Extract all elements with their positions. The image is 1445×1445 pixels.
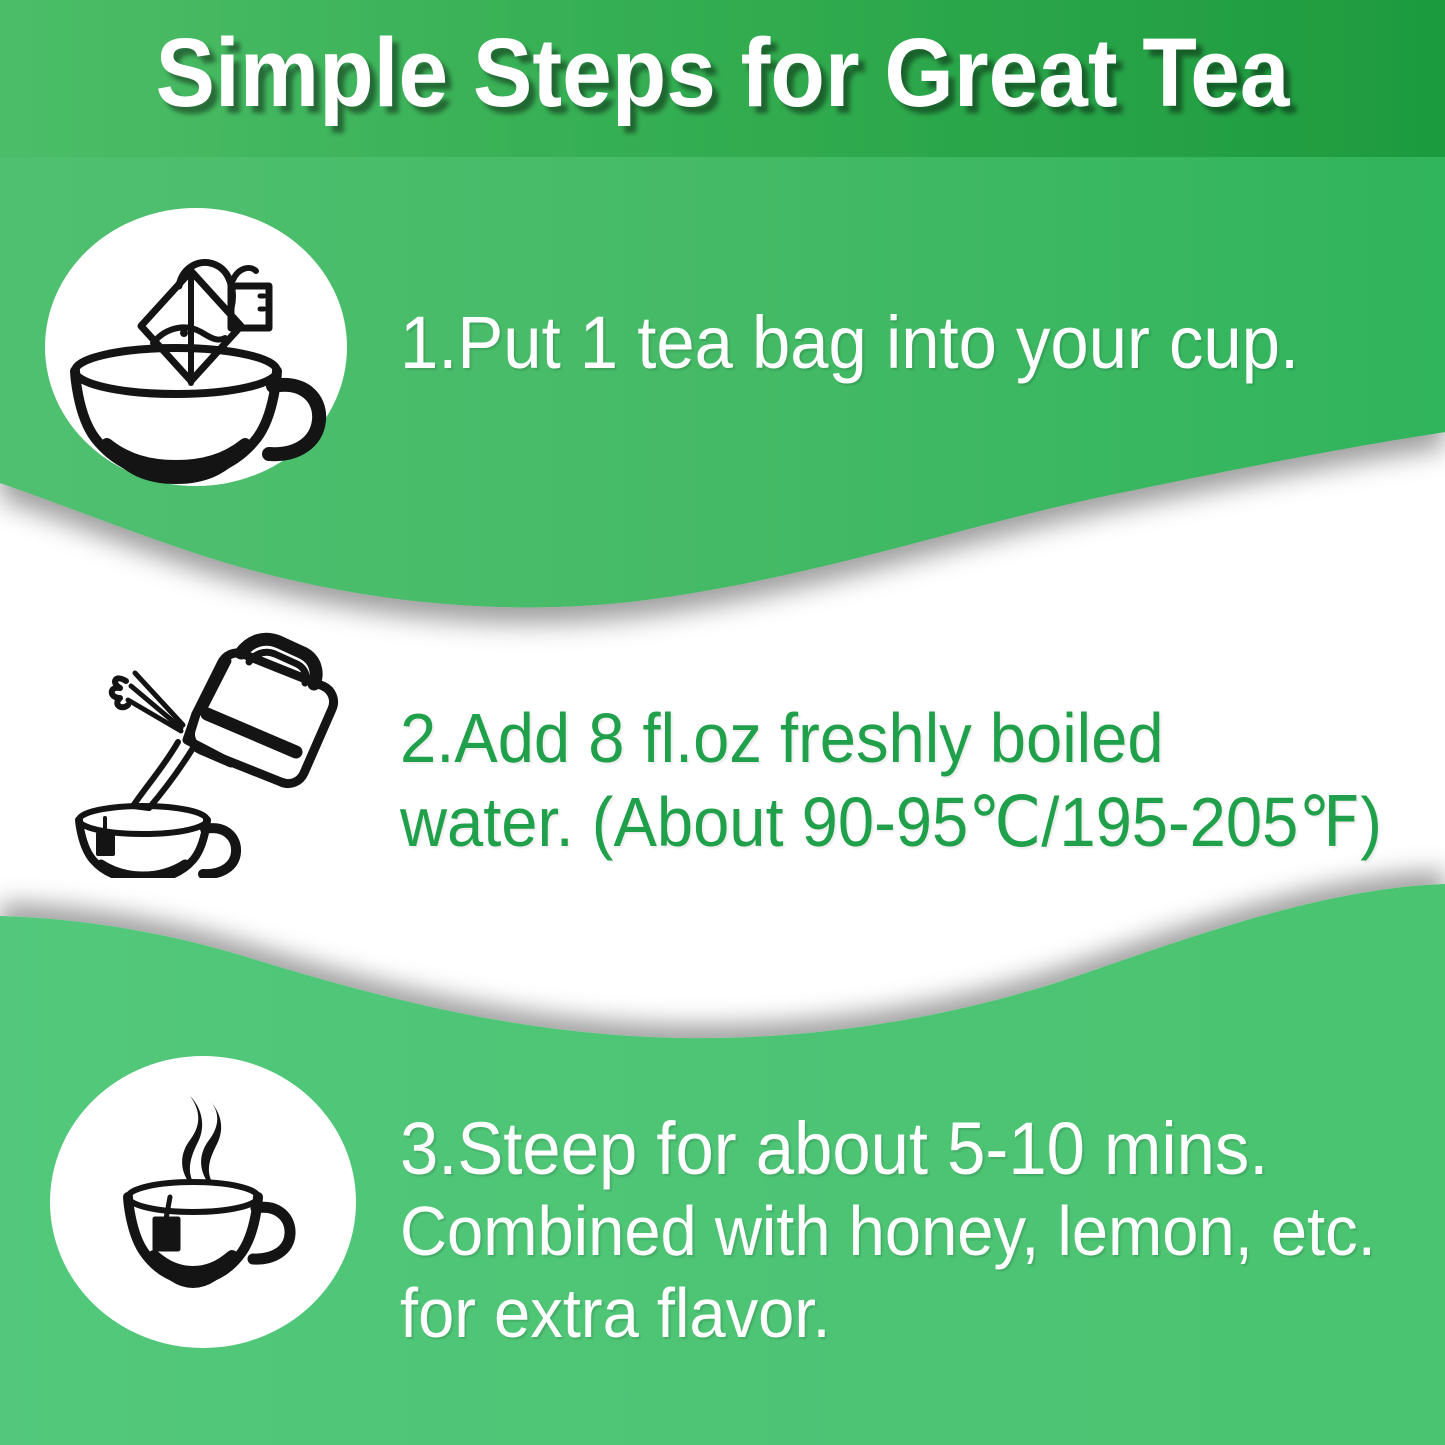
page-title: Simple Steps for Great Tea <box>58 22 1387 124</box>
step-2-line-1: 2.Add 8 fl.oz freshly boiled <box>400 696 1382 780</box>
step-3-line-1: 3.Steep for about 5-10 mins. <box>400 1108 1376 1190</box>
instruction-card: Simple Steps for Great Tea <box>0 0 1445 1445</box>
step-1-icon <box>45 208 347 486</box>
step-3-text: 3.Steep for about 5-10 mins. Combined wi… <box>400 1108 1376 1354</box>
step-3-icon <box>50 1056 356 1348</box>
step-1-text: 1.Put 1 tea bag into your cup. <box>400 300 1299 386</box>
step-3-line-2: Combined with honey, lemon, etc. <box>400 1190 1376 1272</box>
step-2-icon <box>65 628 353 878</box>
step-1-line-1: 1.Put 1 tea bag into your cup. <box>400 300 1299 386</box>
step-2-line-2: water. (About 90-95℃/195-205℉) <box>400 780 1382 864</box>
kettle-pouring-into-teacup-icon <box>65 628 353 878</box>
step-2-text: 2.Add 8 fl.oz freshly boiled water. (Abo… <box>400 696 1382 864</box>
steaming-teacup-with-teabag-icon <box>50 1056 356 1348</box>
teacup-with-pyramid-teabag-icon <box>45 208 347 486</box>
step-3-line-3: for extra flavor. <box>400 1272 1376 1354</box>
